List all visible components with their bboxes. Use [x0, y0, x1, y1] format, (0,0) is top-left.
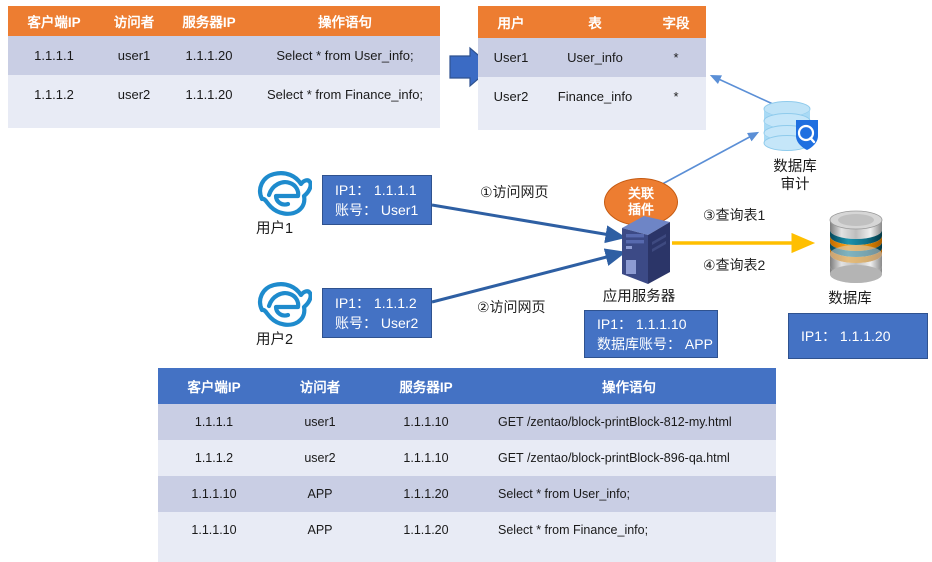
cell-field: * — [646, 77, 706, 116]
cell-server-ip: 1.1.1.10 — [370, 404, 482, 440]
app-server-info-box: IP1： 1.1.1.10 数据库账号： APP — [584, 310, 718, 358]
cell-server-ip: 1.1.1.20 — [168, 36, 250, 75]
user1-node: 用户1 — [252, 165, 318, 238]
table-header-row: 客户端IP 访问者 服务器IP 操作语句 — [8, 6, 440, 36]
server-tower-icon — [604, 212, 690, 290]
user2-info-box: IP1： 1.1.1.2 账号： User2 — [322, 288, 432, 338]
cell-statement: GET /zentao/block-printBlock-812-my.html — [482, 404, 776, 440]
cell-visitor: APP — [270, 476, 370, 512]
cell-server-ip: 1.1.1.20 — [370, 476, 482, 512]
col-field: 字段 — [646, 6, 706, 38]
cell-statement: Select * from Finance_info; — [482, 512, 776, 548]
user1-account: 账号： User1 — [335, 200, 431, 220]
cell-table: Finance_info — [544, 77, 646, 116]
col-statement: 操作语句 — [482, 368, 776, 404]
cell-statement: Select * from User_info; — [250, 36, 440, 75]
cell-client-ip: 1.1.1.1 — [158, 404, 270, 440]
cell-server-ip: 1.1.1.20 — [370, 512, 482, 548]
cell-table: User_info — [544, 38, 646, 77]
database-cylinder-icon — [818, 208, 894, 290]
step3-label: ③查询表1 — [703, 205, 765, 225]
col-client-ip: 客户端IP — [158, 368, 270, 404]
col-visitor: 访问者 — [100, 6, 168, 36]
database-info-box: IP1： 1.1.1.20 — [788, 313, 928, 359]
correlated-table: 客户端IP 访问者 服务器IP 操作语句 1.1.1.1 user1 1.1.1… — [158, 368, 776, 562]
cell-visitor: user2 — [100, 75, 168, 114]
arrow-user1-to-server — [432, 205, 622, 237]
database-node: 数据库 — [812, 208, 888, 308]
table-row: 1.1.1.10 APP 1.1.1.20 Select * from User… — [158, 476, 776, 512]
col-server-ip: 服务器IP — [370, 368, 482, 404]
table-row-spacer — [8, 114, 440, 128]
user2-node: 用户2 — [252, 276, 318, 349]
cell-visitor: APP — [270, 512, 370, 548]
database-shield-icon — [755, 100, 835, 156]
col-statement: 操作语句 — [250, 6, 440, 36]
db-audit-label-line2: 审计 — [755, 176, 835, 194]
table-row: User1 User_info * — [478, 38, 706, 77]
user2-label: 用户2 — [252, 331, 318, 349]
step4-label: ④查询表2 — [703, 255, 765, 275]
user1-info-box: IP1： 1.1.1.1 账号： User1 — [322, 175, 432, 225]
cell-visitor: user1 — [270, 404, 370, 440]
table-row: 1.1.1.1 user1 1.1.1.10 GET /zentao/block… — [158, 404, 776, 440]
table-header-row: 用户 表 字段 — [478, 6, 706, 38]
cell-user: User2 — [478, 77, 544, 116]
cell-client-ip: 1.1.1.10 — [158, 512, 270, 548]
col-visitor: 访问者 — [270, 368, 370, 404]
table-row-spacer — [478, 116, 706, 130]
cell-visitor: user2 — [270, 440, 370, 476]
cell-client-ip: 1.1.1.10 — [158, 476, 270, 512]
audit-log-table: 客户端IP 访问者 服务器IP 操作语句 1.1.1.1 user1 1.1.1… — [8, 6, 440, 128]
db-audit-label-line1: 数据库 — [755, 158, 835, 176]
user2-account: 账号： User2 — [335, 313, 431, 333]
table-row: 1.1.1.2 user2 1.1.1.20 Select * from Fin… — [8, 75, 440, 114]
cell-statement: GET /zentao/block-printBlock-896-qa.html — [482, 440, 776, 476]
table-row: 1.1.1.1 user1 1.1.1.20 Select * from Use… — [8, 36, 440, 75]
database-label: 数据库 — [812, 290, 888, 308]
table-row: 1.1.1.10 APP 1.1.1.20 Select * from Fina… — [158, 512, 776, 548]
app-server-ip: IP1： 1.1.1.10 — [597, 314, 717, 334]
table-row: 1.1.1.2 user2 1.1.1.10 GET /zentao/block… — [158, 440, 776, 476]
cell-statement: Select * from Finance_info; — [250, 75, 440, 114]
cell-user: User1 — [478, 38, 544, 77]
cell-client-ip: 1.1.1.2 — [8, 75, 100, 114]
cell-server-ip: 1.1.1.10 — [370, 440, 482, 476]
app-server-node: 应用服务器 — [596, 212, 682, 306]
app-server-label: 应用服务器 — [596, 288, 682, 306]
table-row-spacer — [158, 548, 776, 562]
diagram-canvas: 客户端IP 访问者 服务器IP 操作语句 1.1.1.1 user1 1.1.1… — [0, 0, 932, 553]
col-server-ip: 服务器IP — [168, 6, 250, 36]
cell-client-ip: 1.1.1.1 — [8, 36, 100, 75]
cell-client-ip: 1.1.1.2 — [158, 440, 270, 476]
cell-server-ip: 1.1.1.20 — [168, 75, 250, 114]
user2-ip: IP1： 1.1.1.2 — [335, 293, 431, 313]
step2-label: ②访问网页 — [477, 297, 546, 317]
app-server-db-account: 数据库账号： APP — [597, 334, 717, 354]
table-header-row: 客户端IP 访问者 服务器IP 操作语句 — [158, 368, 776, 404]
col-user: 用户 — [478, 6, 544, 38]
parsed-table: 用户 表 字段 User1 User_info * User2 Finance_… — [478, 6, 706, 130]
cell-visitor: user1 — [100, 36, 168, 75]
step1-label: ①访问网页 — [480, 182, 549, 202]
cell-field: * — [646, 38, 706, 77]
internet-explorer-icon — [256, 276, 312, 330]
cell-statement: Select * from User_info; — [482, 476, 776, 512]
table-row: User2 Finance_info * — [478, 77, 706, 116]
col-client-ip: 客户端IP — [8, 6, 100, 36]
user1-label: 用户1 — [252, 220, 318, 238]
database-ip: IP1： 1.1.1.20 — [801, 326, 927, 346]
plugin-oval-line1: 关联 — [628, 186, 654, 202]
user1-ip: IP1： 1.1.1.1 — [335, 180, 431, 200]
db-audit-node: 数据库 审计 — [755, 100, 835, 194]
db-audit-label: 数据库 审计 — [755, 158, 835, 194]
col-table: 表 — [544, 6, 646, 38]
internet-explorer-icon — [256, 165, 312, 219]
arrow-user2-to-server — [432, 253, 622, 302]
